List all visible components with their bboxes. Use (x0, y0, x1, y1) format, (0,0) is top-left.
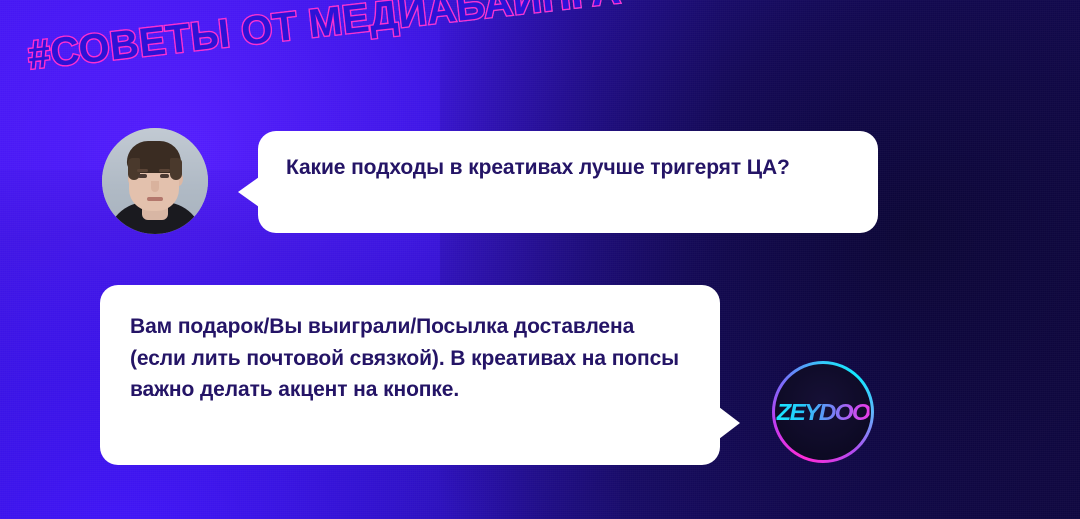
promo-card: #СОВЕТЫ ОТ МЕДИАБАИНГА #СОВЕТЫ ОТ МЕДИАБ… (0, 0, 1080, 519)
answer-bubble-tail (719, 407, 740, 439)
zeydoo-logo: ZEYDOO (772, 361, 874, 463)
question-text: Какие подходы в креативах лучше тригерят… (286, 153, 850, 183)
avatar-eye-left (138, 174, 147, 178)
logo-inner-disc: ZEYDOO (775, 364, 871, 460)
answer-bubble: Вам подарок/Вы выиграли/Посылка доставле… (100, 285, 720, 465)
question-bubble: Какие подходы в креативах лучше тригерят… (258, 131, 878, 233)
avatar-eyebrow-right (159, 169, 170, 172)
avatar (102, 128, 208, 234)
question-bubble-tail (238, 177, 259, 207)
avatar-nose (151, 181, 159, 192)
avatar-hair-side-right (170, 158, 182, 180)
avatar-mouth (147, 197, 163, 201)
logo-wordmark: ZEYDOO (777, 399, 870, 426)
avatar-eyebrow-left (137, 169, 148, 172)
answer-text: Вам подарок/Вы выиграли/Посылка доставле… (130, 311, 690, 406)
avatar-eye-right (160, 174, 169, 178)
